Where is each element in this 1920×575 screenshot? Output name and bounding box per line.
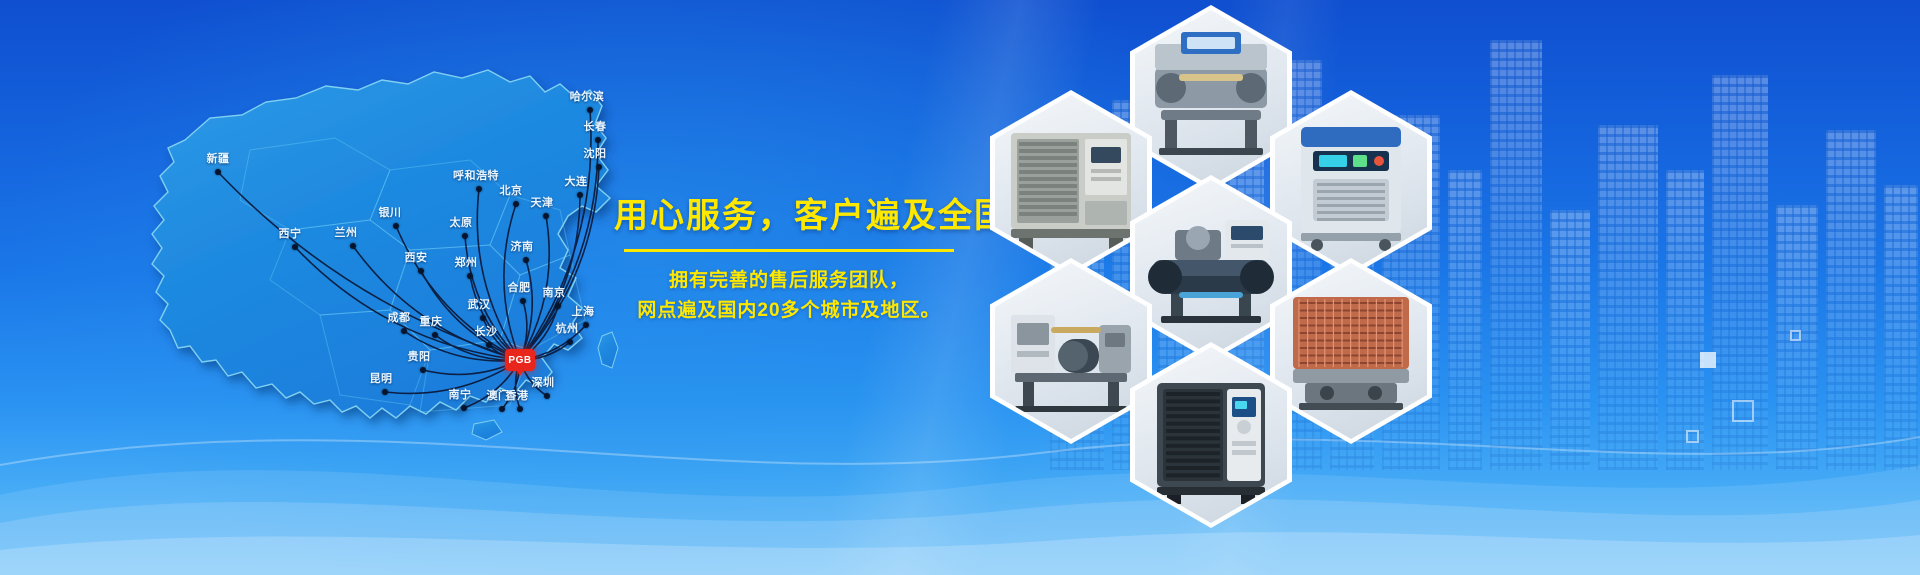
city-dot[interactable] (583, 322, 589, 328)
product-hexagon-grid (955, 0, 1595, 470)
city-dot[interactable] (432, 332, 438, 338)
city-dot[interactable] (486, 342, 492, 348)
city-label: 大连 (565, 173, 588, 189)
city-dot[interactable] (595, 137, 601, 143)
product-hexagon-air-cooled-box-chiller[interactable] (990, 90, 1152, 276)
city-dot[interactable] (596, 164, 602, 170)
hainan-island (472, 420, 502, 440)
city-dot[interactable] (215, 169, 221, 175)
city-label: 重庆 (420, 313, 443, 329)
city-dot[interactable] (577, 192, 583, 198)
city-dot[interactable] (382, 389, 388, 395)
city-dot[interactable] (555, 303, 561, 309)
city-dot[interactable] (418, 268, 424, 274)
city-label: 呼和浩特 (453, 167, 499, 183)
city-dot[interactable] (544, 393, 550, 399)
city-label: 昆明 (370, 370, 393, 386)
city-dot[interactable] (480, 315, 486, 321)
city-label: 哈尔滨 (570, 88, 605, 104)
city-dot[interactable] (523, 257, 529, 263)
city-label: 香港 (506, 387, 529, 403)
banner-subtitle-line-2: 网点遍及国内20多个城市及地区。 (614, 296, 964, 325)
banner-headline: 用心服务，客户遍及全国 (614, 198, 964, 235)
banner-text-block: 用心服务，客户遍及全国 拥有完善的售后服务团队， 网点遍及国内20多个城市及地区… (614, 198, 964, 325)
product-hexagon-water-cooled-unit[interactable] (1130, 175, 1292, 361)
city-label: 银川 (379, 204, 402, 220)
hub-marker-pgb[interactable]: PGB (505, 349, 535, 371)
city-dot[interactable] (587, 107, 593, 113)
product-image-water-cooled-screw-chiller (1135, 10, 1287, 186)
city-label: 贵阳 (408, 348, 431, 364)
service-network-banner: 新疆西宁兰州银川西安太原呼和浩特北京天津大连沈阳长春哈尔滨郑州济南合肥南京上海杭… (0, 0, 1920, 575)
city-dot[interactable] (520, 298, 526, 304)
city-label: 西宁 (279, 225, 302, 241)
product-hexagon-low-temp-chiller-unit[interactable] (990, 258, 1152, 444)
city-label: 北京 (500, 182, 523, 198)
city-label: 深圳 (532, 374, 555, 390)
city-label: 上海 (572, 303, 595, 319)
china-landmass (152, 70, 610, 418)
city-label: 济南 (511, 238, 534, 254)
city-label: 杭州 (556, 320, 579, 336)
city-dot[interactable] (292, 244, 298, 250)
city-label: 兰州 (335, 224, 358, 240)
city-dot[interactable] (393, 223, 399, 229)
city-dot[interactable] (420, 367, 426, 373)
city-label: 成都 (388, 309, 411, 325)
city-dot[interactable] (476, 186, 482, 192)
city-label: 南宁 (449, 386, 472, 402)
city-label: 南京 (543, 284, 566, 300)
city-label: 长春 (584, 118, 607, 134)
city-dot[interactable] (567, 339, 573, 345)
city-dot[interactable] (517, 406, 523, 412)
city-label: 新疆 (207, 150, 230, 166)
product-hexagon-industrial-air-cooled-chiller[interactable] (1270, 90, 1432, 276)
city-dot[interactable] (401, 328, 407, 334)
product-image-industrial-air-cooled-chiller (1275, 95, 1427, 271)
city-label: 太原 (450, 214, 473, 230)
headline-divider (624, 249, 954, 252)
city-dot[interactable] (513, 201, 519, 207)
city-dot[interactable] (499, 406, 505, 412)
banner-subtitle-line-1: 拥有完善的售后服务团队， (614, 266, 964, 295)
product-image-low-temp-chiller-unit (995, 263, 1147, 439)
product-hexagon-water-cooled-screw-chiller[interactable] (1130, 5, 1292, 191)
product-image-air-cooled-box-chiller (995, 95, 1147, 271)
city-dot[interactable] (467, 273, 473, 279)
city-label: 天津 (531, 194, 554, 210)
taiwan-island (598, 332, 618, 368)
city-label: 合肥 (508, 279, 531, 295)
city-label: 长沙 (475, 323, 498, 339)
city-dot[interactable] (543, 213, 549, 219)
city-dot[interactable] (462, 233, 468, 239)
city-label: 郑州 (455, 254, 478, 270)
product-hexagon-condenser-coil-chiller[interactable] (1270, 258, 1432, 444)
city-label: 武汉 (468, 296, 491, 312)
city-label: 西安 (405, 249, 428, 265)
city-dot[interactable] (461, 405, 467, 411)
city-dot[interactable] (350, 243, 356, 249)
city-label: 沈阳 (584, 145, 607, 161)
product-image-industrial-water-chiller (1135, 347, 1287, 523)
product-image-water-cooled-unit (1135, 180, 1287, 356)
product-image-condenser-coil-chiller (1275, 263, 1427, 439)
